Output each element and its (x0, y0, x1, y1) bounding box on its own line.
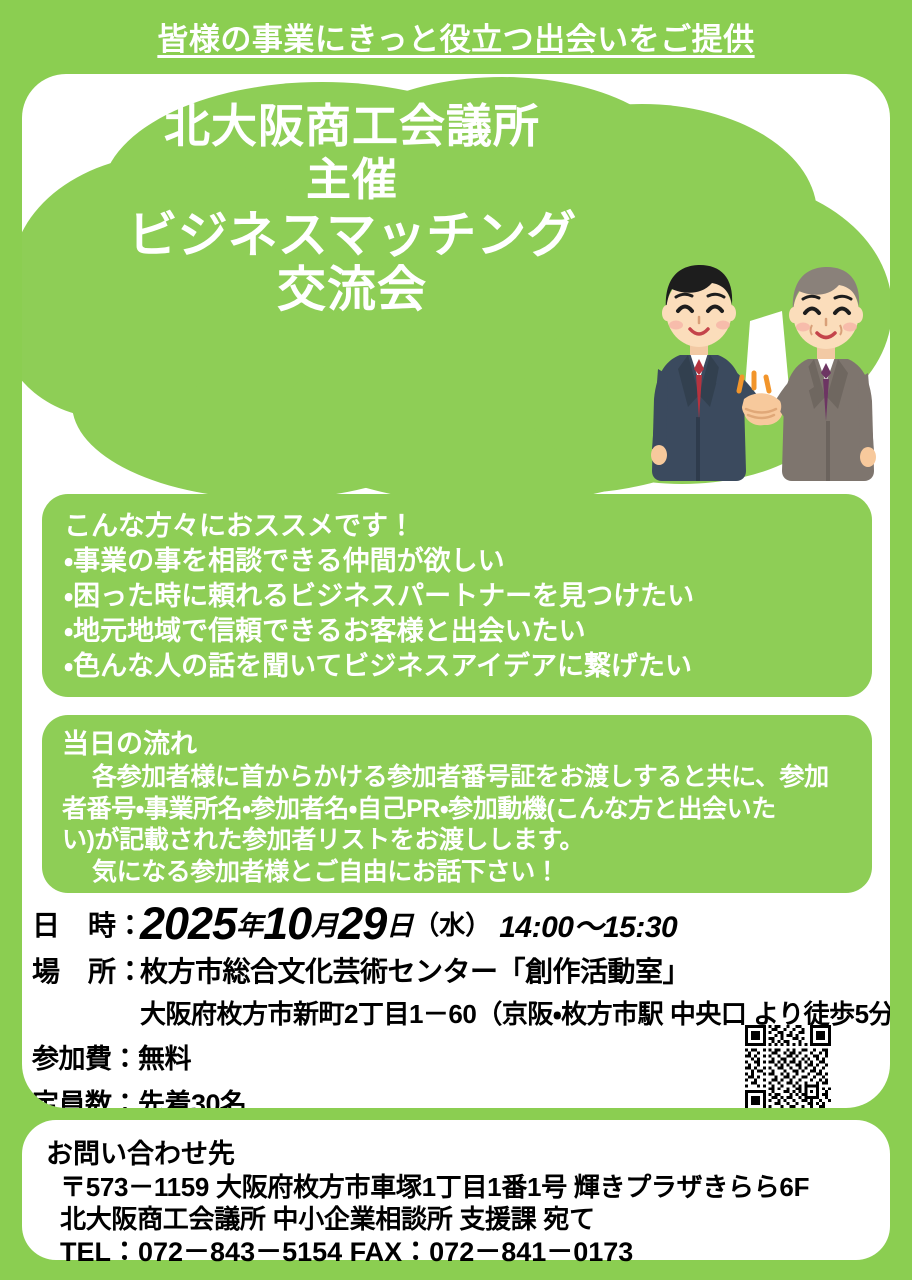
detail-row-datetime: 日 時： 2025 年 10 月 29 日 （水） 14:00〜15:30 (32, 901, 882, 946)
day-unit: 日 (386, 904, 413, 943)
event-year: 2025 (140, 901, 236, 946)
event-title-block: 北大阪商工会議所 主催 ビジネスマッチング 交流会 (22, 102, 682, 317)
event-flow-heading: 当日の流れ (62, 728, 852, 760)
year-unit: 年 (236, 904, 263, 943)
detail-row-place: 場 所： 枚方市総合文化芸術センター「創作活動室」 (32, 950, 882, 990)
flow-line-4: 気になる参加者様とご自由にお話下さい！ (92, 858, 559, 886)
contact-organization: 北大阪商工会議所 中小企業相談所 支援課 宛て (60, 1203, 890, 1236)
title-line-hosted-by: 主催 (22, 156, 682, 205)
event-day: 29 (338, 901, 386, 946)
place-label: 場 所： (32, 950, 140, 990)
recommendation-item: ・困った時に頼れるビジネスパートナーを見つけたい (64, 579, 850, 614)
header-band: 皆様の事業にきっと役立つ出会いをご提供 (0, 0, 912, 72)
recommendation-item: ・事業の事を相談できる仲間が欲しい (64, 544, 850, 579)
flow-line-2: 者番号・事業所名・参加者名・自己PR・参加動機(こんな方と出会いた (62, 794, 852, 826)
main-content-card: 北大阪商工会議所 主催 ビジネスマッチング 交流会 (22, 74, 890, 1108)
recommendation-heading: こんな方々におススメです！ (64, 510, 850, 542)
flow-line-1: 各参加者様に首からかける参加者番号証をお渡しすると共に、参加 (92, 763, 829, 791)
event-flow-box: 当日の流れ 各参加者様に首からかける参加者番号証をお渡しすると共に、参加 者番号… (42, 715, 872, 893)
recommendation-item: ・色んな人の話を聞いてビジネスアイデアに繋げたい (64, 649, 850, 684)
contact-phone-fax: TEL：072－843－5154 FAX：072－841－0173 (60, 1236, 890, 1268)
recommendation-box: こんな方々におススメです！ ・事業の事を相談できる仲間が欲しい ・困った時に頼れ… (42, 494, 872, 697)
event-month: 10 (263, 901, 311, 946)
place-value: 枚方市総合文化芸術センター「創作活動室」 (140, 950, 690, 990)
recommendation-item: ・地元地域で信頼できるお客様と出会いたい (64, 614, 850, 649)
event-flow-paragraph: 各参加者様に首からかける参加者番号証をお渡しすると共に、参加 (62, 762, 852, 794)
title-line-organizer: 北大阪商工会議所 (22, 102, 682, 152)
flow-line-3: い)が記載された参加者リストをお渡しします。 (62, 825, 852, 857)
handshake-illustration (632, 249, 890, 499)
event-day-of-week: （水） (413, 905, 491, 942)
contact-address: 〒573－1159 大阪府枚方市車塚1丁目1番1号 輝きプラザきらら6F (60, 1171, 890, 1204)
event-flow-closing: 気になる参加者様とご自由にお話下さい！ (62, 857, 852, 889)
header-tagline: 皆様の事業にきっと役立つ出会いをご提供 (157, 14, 754, 59)
event-time-range: 14:00〜15:30 (499, 902, 677, 946)
contact-heading: お問い合わせ先 (46, 1138, 890, 1171)
title-line-event-type: 交流会 (22, 264, 682, 317)
title-line-event-name: ビジネスマッチング (22, 208, 682, 262)
application-form-qr-code[interactable] (745, 1025, 831, 1108)
contact-footer-card: お問い合わせ先 〒573－1159 大阪府枚方市車塚1丁目1番1号 輝きプラザき… (22, 1120, 890, 1260)
month-unit: 月 (311, 904, 338, 943)
datetime-label: 日 時： (32, 904, 140, 944)
